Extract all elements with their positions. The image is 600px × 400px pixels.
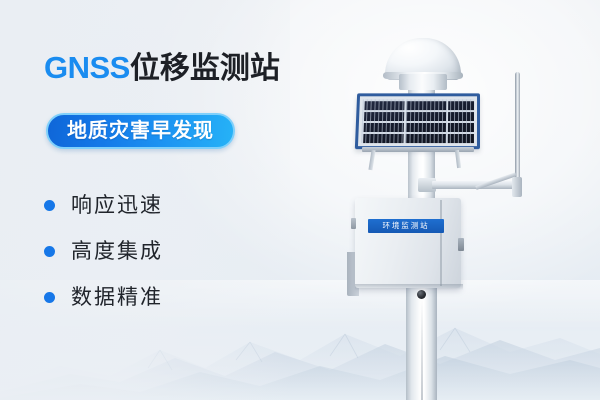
enclosure-nameplate-text: 环境监测站 [383, 222, 430, 230]
bullet-dot-icon [44, 200, 55, 211]
product-banner: 环境监测站 GNSS位移监测站 地质灾害早发现 响应迅速 高度集成 数据精准 [0, 0, 600, 400]
enclosure-door-seam [440, 200, 442, 286]
headline-brand: GNSS [44, 50, 130, 85]
bullet-dot-icon [44, 246, 55, 257]
feature-list: 响应迅速 高度集成 数据精准 [44, 182, 274, 320]
enclosure-latch [458, 238, 464, 251]
feature-label: 数据精准 [71, 287, 163, 308]
list-item: 数据精准 [44, 274, 274, 320]
mast-cable-port [417, 290, 426, 299]
crossarm-endcap [512, 177, 522, 197]
page-title: GNSS位移监测站 [44, 52, 280, 84]
mast-seam [421, 300, 423, 400]
feature-label: 响应迅速 [71, 195, 163, 216]
feature-label: 高度集成 [71, 241, 163, 262]
list-item: 高度集成 [44, 228, 274, 274]
enclosure-nameplate: 环境监测站 [368, 219, 444, 233]
enclosure-hinge [351, 218, 356, 229]
solar-panel [355, 93, 480, 149]
monitoring-station-illustration: 环境监测站 [300, 0, 600, 400]
solar-panel-strut-left [368, 150, 375, 170]
solar-panel-strut-right [455, 150, 461, 168]
whip-antenna [515, 72, 520, 182]
status-badge: 地质灾害早发现 [46, 113, 235, 149]
headline-suffix: 位移监测站 [130, 52, 280, 85]
equipment-enclosure [355, 198, 461, 288]
bullet-dot-icon [44, 292, 55, 303]
solar-cells [361, 99, 474, 143]
dome-mount-collar [399, 74, 447, 90]
status-badge-label: 地质灾害早发现 [67, 121, 214, 141]
enclosure-base-shadow [355, 284, 463, 290]
list-item: 响应迅速 [44, 182, 274, 228]
